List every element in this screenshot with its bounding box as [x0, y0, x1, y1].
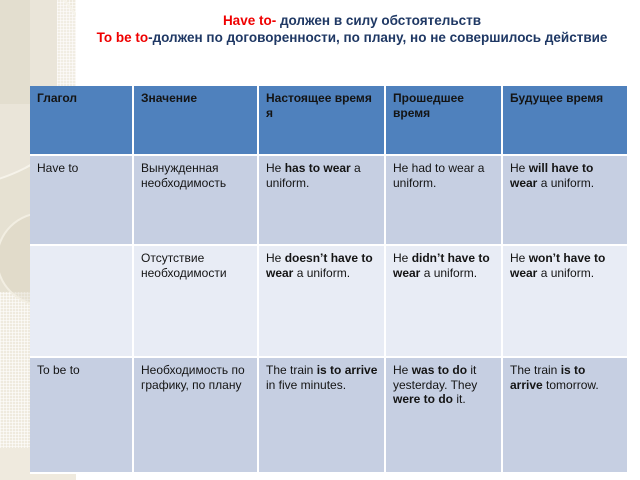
table-row: Отсутствие необходимости He doesn’t have…: [30, 245, 627, 357]
title-keyword-to-be-to: To be to: [97, 30, 149, 45]
text-plain: The train: [266, 363, 317, 377]
title-keyword-have-to: Have to-: [223, 13, 276, 28]
text-bold: were to do: [393, 392, 453, 406]
table-row: Have to Вынужденная необходимость He has…: [30, 155, 627, 245]
text-plain: it.: [453, 392, 466, 406]
title-text-1: должен в силу обстоятельств: [276, 13, 481, 28]
cell-present: He doesn’t have to wear a uniform.: [258, 245, 385, 357]
text-plain: tomorrow.: [543, 378, 599, 392]
cell-present: The train is to arrive in five minutes.: [258, 357, 385, 473]
text-plain: a uniform.: [537, 266, 594, 280]
cell-future: He won’t have to wear a uniform.: [502, 245, 627, 357]
text-plain: He: [266, 161, 285, 175]
cell-verb: To be to: [30, 357, 133, 473]
cell-meaning: Необходимость по графику, по плану: [133, 357, 258, 473]
cell-future: He will have to wear a uniform.: [502, 155, 627, 245]
title-text-2: -должен по договоренности, по плану, но …: [148, 30, 607, 45]
text-bold: was to do: [412, 363, 467, 377]
cell-verb: [30, 245, 133, 357]
text-plain: a uniform.: [420, 266, 477, 280]
column-header-future: Будущее время: [502, 86, 627, 155]
cell-future: The train is to arrive tomorrow.: [502, 357, 627, 473]
cell-past: He was to do it yesterday. They were to …: [385, 357, 502, 473]
cell-meaning: Вынужденная необходимость: [133, 155, 258, 245]
column-header-meaning: Значение: [133, 86, 258, 155]
cell-verb: Have to: [30, 155, 133, 245]
text-plain: The train: [510, 363, 561, 377]
text-plain: a uniform.: [537, 176, 594, 190]
column-header-verb: Глагол: [30, 86, 133, 155]
slide-title: Have to- должен в силу обстоятельств To …: [76, 12, 628, 47]
cell-past: He didn’t have to wear a uniform.: [385, 245, 502, 357]
modal-verbs-table: Глагол Значение Настоящее время я Прошед…: [30, 86, 627, 474]
cell-meaning: Отсутствие необходимости: [133, 245, 258, 357]
text-plain: He: [393, 251, 412, 265]
title-line-1: Have to- должен в силу обстоятельств: [76, 12, 628, 29]
text-bold: is to arrive: [317, 363, 378, 377]
cell-present: He has to wear a uniform.: [258, 155, 385, 245]
text-plain: He: [510, 251, 529, 265]
text-plain: a uniform.: [293, 266, 350, 280]
text-plain: in five minutes.: [266, 378, 346, 392]
column-header-present: Настоящее время я: [258, 86, 385, 155]
text-plain: He: [510, 161, 529, 175]
title-line-2: To be to-должен по договоренности, по пл…: [76, 29, 628, 46]
column-header-past: Прошедшее время: [385, 86, 502, 155]
text-plain: He: [266, 251, 285, 265]
text-plain: He: [393, 363, 412, 377]
text-plain: He had to wear a uniform.: [393, 161, 484, 190]
text-bold: has to wear: [285, 161, 351, 175]
table-row: To be to Необходимость по графику, по пл…: [30, 357, 627, 473]
cell-past: He had to wear a uniform.: [385, 155, 502, 245]
table-header-row: Глагол Значение Настоящее время я Прошед…: [30, 86, 627, 155]
